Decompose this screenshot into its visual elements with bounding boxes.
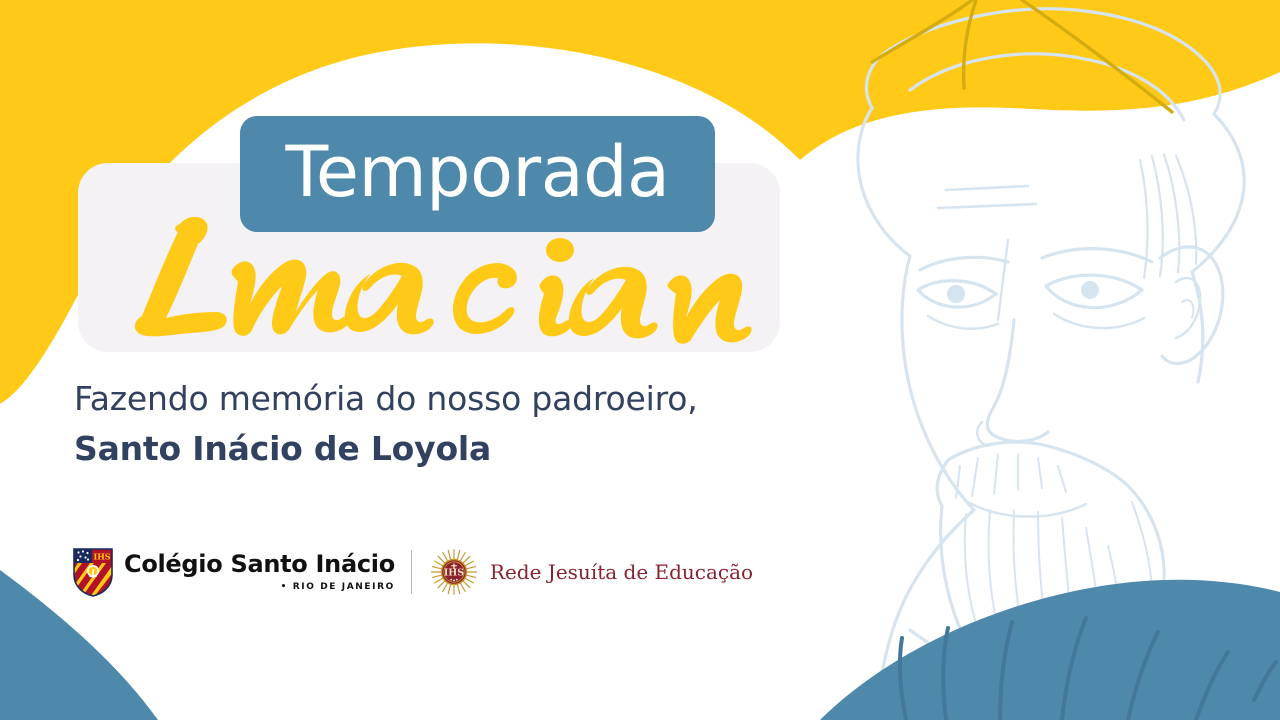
footer-logos: IHS	[72, 546, 753, 598]
background-shapes-bottom	[0, 0, 1280, 720]
title-badge: Temporada	[240, 116, 715, 232]
subtitle-line-2: Santo Inácio de Loyola	[74, 428, 834, 471]
poster-canvas: Temporada Fazendo memória do nosso padro…	[0, 0, 1280, 720]
ihs-sunburst-seal-icon: IHS	[430, 548, 478, 596]
school-location: • RIO DE JANEIRO	[124, 583, 395, 592]
shield-crest-icon: IHS	[72, 547, 114, 597]
blue-curve-shape	[820, 580, 1280, 720]
svg-text:IHS: IHS	[93, 552, 110, 562]
subtitle-line-1: Fazendo memória do nosso padroeiro,	[74, 378, 834, 421]
title-badge-label: Temporada	[286, 137, 670, 207]
network-name: Rede Jesuíta de Educação	[490, 562, 753, 582]
school-wordmark: Colégio Santo Inácio • RIO DE JANEIRO	[124, 547, 395, 597]
subtitle-block: Fazendo memória do nosso padroeiro, Sant…	[74, 378, 834, 471]
vertical-divider	[411, 550, 412, 594]
logo-colegio-santo-inacio: IHS	[72, 546, 395, 598]
school-name: Colégio Santo Inácio	[124, 552, 395, 576]
logo-rede-jesuita: IHS Rede Jesuíta de Educação	[430, 546, 753, 598]
svg-text:IHS: IHS	[444, 567, 464, 578]
